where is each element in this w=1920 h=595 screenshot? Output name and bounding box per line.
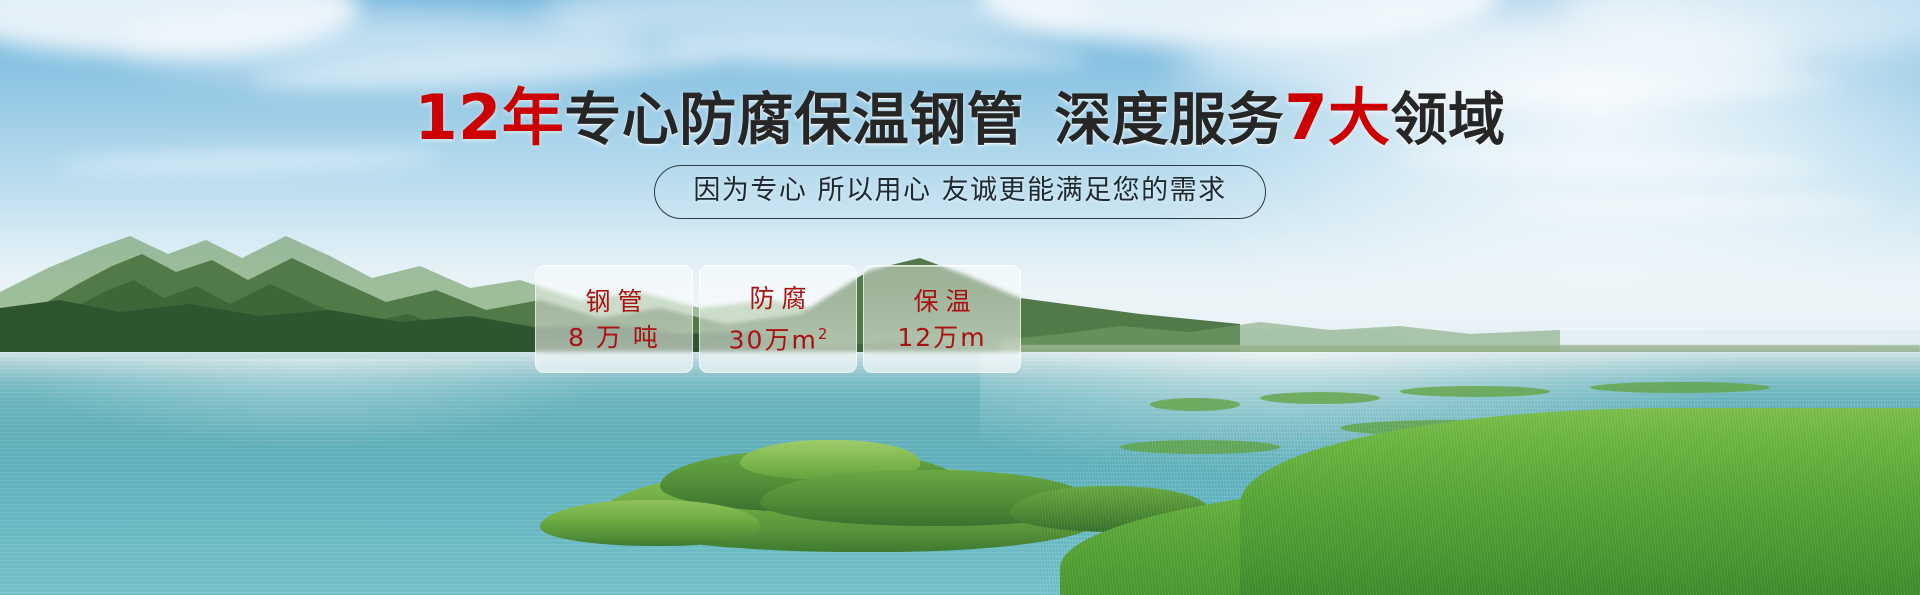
marsh-patch — [1150, 398, 1240, 411]
stat-card-anticorrosion[interactable]: 防腐 30万m2 — [699, 265, 857, 373]
promo-banner: 12年专心防腐保温钢管深度服务7大领域 因为专心 所以用心 友诚更能满足您的需求… — [0, 0, 1920, 595]
stat-card-steel-pipe[interactable]: 钢管 8 万 吨 — [535, 265, 693, 373]
stat-card-label: 防腐 — [742, 285, 813, 312]
stat-card-number: 30万m — [729, 325, 818, 354]
banner-headline: 12年专心防腐保温钢管深度服务7大领域 — [0, 88, 1920, 150]
marsh-patch — [1590, 382, 1770, 393]
headline-fields-red: 7大 — [1284, 81, 1390, 154]
stat-card-label: 钢管 — [578, 288, 649, 315]
stat-card-number: 8 万 吨 — [568, 323, 660, 352]
headline-main-dark: 专心防腐保温钢管 — [564, 87, 1024, 153]
marsh-patch — [1400, 386, 1550, 397]
stat-card-number: 12万m — [897, 323, 986, 352]
headline-service-dark: 深度服务 — [1054, 87, 1284, 153]
stat-cards: 钢管 8 万 吨 防腐 30万m2 保温 12万m — [535, 265, 1021, 373]
headline-years-red: 12年 — [415, 81, 565, 154]
grass-island — [540, 500, 760, 546]
water-glint — [0, 358, 620, 448]
stat-card-label: 保温 — [906, 288, 977, 315]
stat-card-value: 30万m2 — [729, 321, 828, 353]
marsh-patch — [1260, 392, 1380, 404]
stat-card-value: 8 万 吨 — [568, 324, 660, 351]
stat-card-unit-exponent: 2 — [818, 325, 828, 343]
headline-fields-dark: 领域 — [1390, 87, 1505, 153]
stat-card-value: 12万m — [897, 324, 986, 351]
subtitle-container: 因为专心 所以用心 友诚更能满足您的需求 — [0, 165, 1920, 219]
stat-card-insulation[interactable]: 保温 12万m — [863, 265, 1021, 373]
banner-subtitle: 因为专心 所以用心 友诚更能满足您的需求 — [654, 165, 1265, 219]
